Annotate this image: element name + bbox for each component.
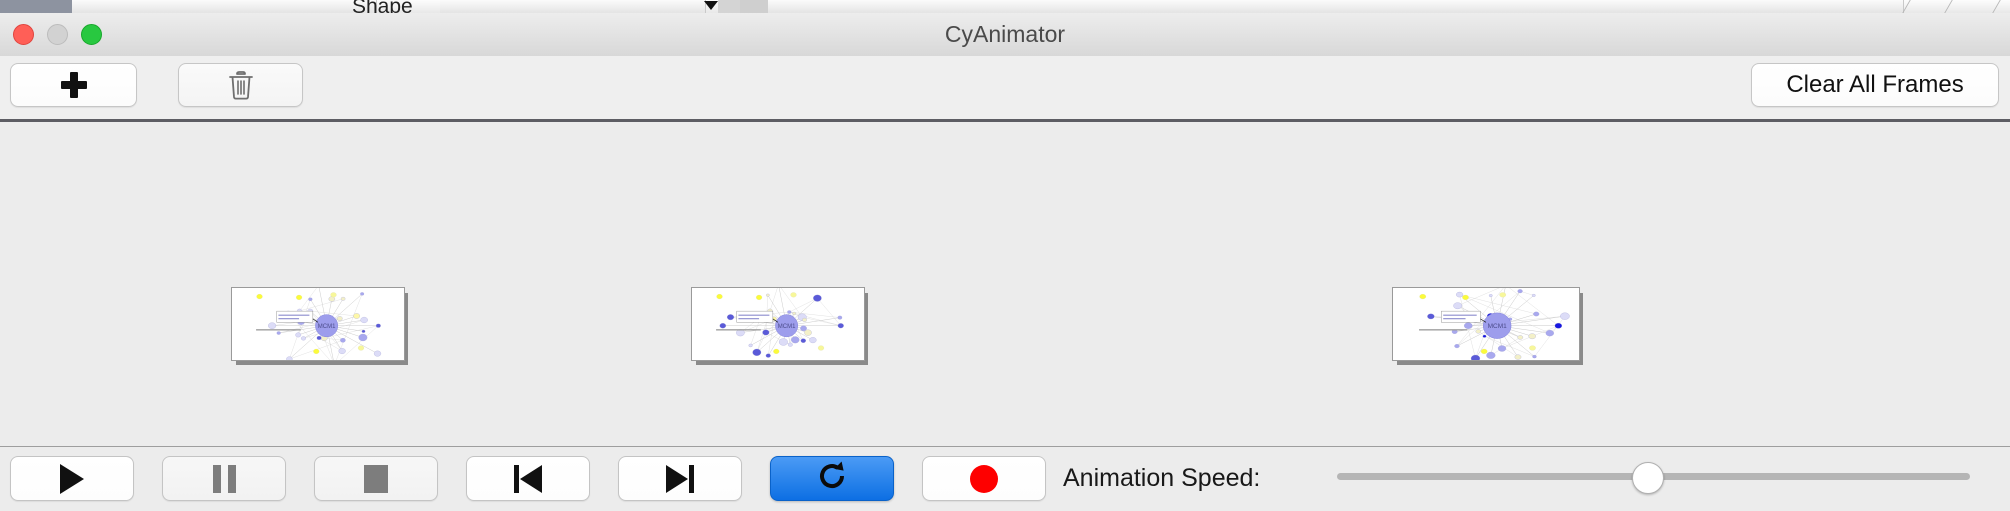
stop-button[interactable] — [314, 456, 438, 501]
skip-start-button[interactable] — [466, 456, 590, 501]
cyanimator-window: Shape CyAnimator — [0, 0, 2010, 510]
add-frame-button[interactable] — [10, 63, 137, 107]
plus-icon — [61, 72, 87, 98]
background-window-label: Shape — [352, 0, 413, 13]
timeline-frame[interactable]: MCM1 — [1392, 287, 1578, 359]
animation-speed-slider[interactable] — [1337, 473, 1970, 483]
clear-all-frames-button[interactable]: Clear All Frames — [1751, 63, 1999, 107]
svg-text:MCM1: MCM1 — [318, 324, 336, 330]
delete-frame-button[interactable] — [178, 63, 303, 107]
svg-text:MCM1: MCM1 — [778, 324, 796, 330]
timeline-frame[interactable]: MCM1 — [691, 287, 863, 359]
timeline-frame[interactable]: MCM1 — [231, 287, 403, 359]
playback-controls-bar: Animation Speed: — [0, 446, 2010, 511]
stop-icon — [364, 465, 388, 493]
record-button[interactable] — [922, 456, 1046, 501]
slider-thumb[interactable] — [1632, 462, 1664, 494]
clear-all-frames-label: Clear All Frames — [1786, 71, 1963, 99]
play-icon — [60, 464, 84, 494]
frame-network-preview: MCM1 — [691, 287, 865, 361]
timeline-panel[interactable]: MCM1MCM1MCM1 12131415161718 Seconds — [0, 122, 2010, 415]
window-title: CyAnimator — [0, 13, 2010, 56]
svg-text:MCM1: MCM1 — [1488, 323, 1508, 330]
skip-to-start-icon — [514, 465, 542, 493]
frame-network-preview: MCM1 — [1392, 287, 1580, 361]
toolbar: Clear All Frames — [0, 56, 2010, 119]
play-button[interactable] — [10, 456, 134, 501]
loop-button[interactable] — [770, 456, 894, 501]
background-window-strip: Shape — [0, 0, 2010, 13]
animation-speed-label: Animation Speed: — [1063, 456, 1260, 501]
record-icon — [970, 465, 998, 493]
trash-icon — [228, 70, 254, 100]
frame-network-preview: MCM1 — [231, 287, 405, 361]
pause-button[interactable] — [162, 456, 286, 501]
skip-to-end-icon — [666, 465, 694, 493]
pause-icon — [213, 465, 236, 493]
skip-end-button[interactable] — [618, 456, 742, 501]
loop-icon — [815, 459, 849, 498]
